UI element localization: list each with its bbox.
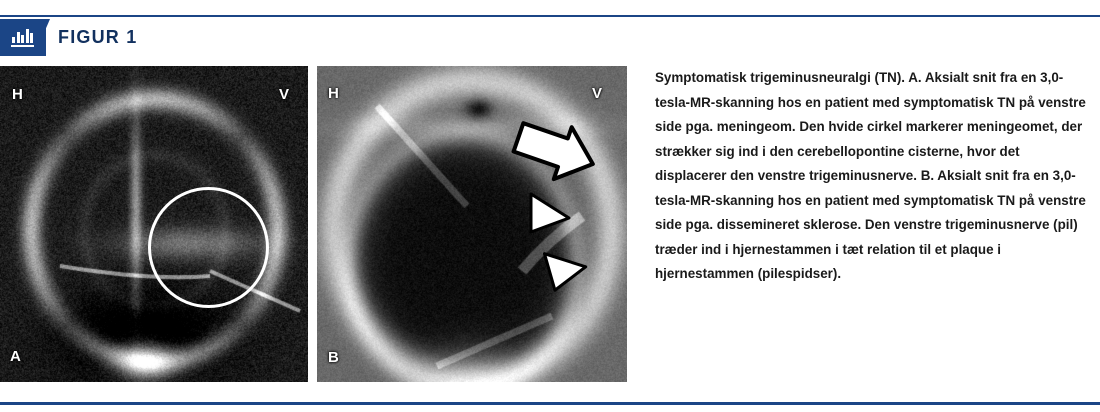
bar-chart-icon-bar — [26, 29, 29, 43]
orientation-label-left-b: H — [328, 86, 339, 101]
figure-badge-slant — [34, 19, 50, 56]
bar-chart-icon-bar — [17, 32, 20, 43]
bottom-divider-rule — [0, 402, 1100, 405]
orientation-label-right-b: V — [592, 86, 602, 101]
bar-chart-icon-bar — [21, 35, 24, 43]
meningeom-circle-marker — [148, 187, 269, 308]
figure-title: FIGUR 1 — [58, 27, 137, 48]
bar-chart-icon-baseline — [11, 45, 34, 47]
bar-chart-icon-bar — [30, 33, 33, 43]
mri-panel-b: H V B — [317, 66, 627, 382]
panel-letter-a: A — [10, 349, 21, 364]
mri-panel-a: H V A — [0, 66, 308, 382]
top-divider-rule — [0, 15, 1100, 17]
orientation-label-right-a: V — [279, 87, 289, 102]
mri-image-b — [317, 66, 627, 382]
figure-header: FIGUR 1 — [0, 19, 1100, 56]
orientation-label-left-a: H — [12, 87, 23, 102]
panel-letter-b: B — [328, 350, 339, 365]
bar-chart-icon-bar — [12, 37, 15, 43]
bar-chart-icon — [11, 27, 34, 48]
figure-caption: Symptomatisk trigeminusneuralgi (TN). A.… — [655, 66, 1087, 287]
